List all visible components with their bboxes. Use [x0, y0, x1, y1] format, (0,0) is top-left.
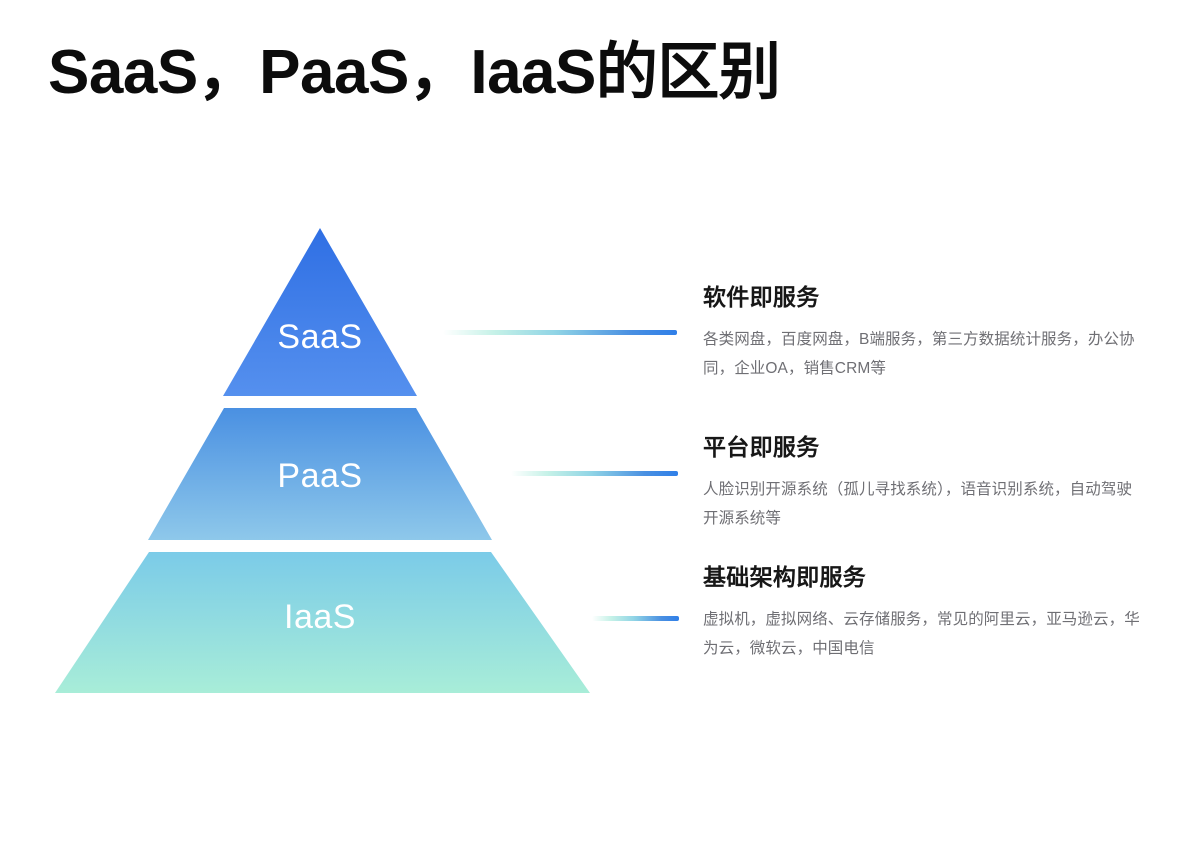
slide-canvas: SaaS，PaaS，IaaS的区别 SaaS PaaS IaaS — [0, 0, 1190, 841]
info-heading-iaas: 基础架构即服务 — [703, 563, 1147, 593]
info-body-paas: 人脸识别开源系统（孤儿寻找系统），语音识别系统，自动驾驶开源系统等 — [703, 476, 1147, 533]
info-body-saas: 各类网盘，百度网盘，B端服务，第三方数据统计服务，办公协同，企业OA，销售CRM… — [703, 326, 1147, 383]
service-model-pyramid — [0, 0, 660, 841]
connector-line-iaas — [592, 616, 679, 621]
connector-line-saas — [443, 330, 677, 335]
info-heading-paas: 平台即服务 — [703, 433, 1147, 463]
info-block-iaas: 基础架构即服务 虚拟机，虚拟网络、云存储服务，常见的阿里云，亚马逊云，华为云，微… — [703, 563, 1147, 663]
info-body-iaas: 虚拟机，虚拟网络、云存储服务，常见的阿里云，亚马逊云，华为云，微软云，中国电信 — [703, 606, 1147, 663]
info-block-saas: 软件即服务 各类网盘，百度网盘，B端服务，第三方数据统计服务，办公协同，企业OA… — [703, 283, 1147, 383]
pyramid-tier-iaas[interactable] — [55, 552, 590, 693]
info-heading-saas: 软件即服务 — [703, 283, 1147, 313]
pyramid-tier-paas[interactable] — [148, 408, 492, 540]
info-block-paas: 平台即服务 人脸识别开源系统（孤儿寻找系统），语音识别系统，自动驾驶开源系统等 — [703, 433, 1147, 533]
connector-line-paas — [511, 471, 678, 476]
pyramid-tier-saas[interactable] — [223, 228, 417, 396]
